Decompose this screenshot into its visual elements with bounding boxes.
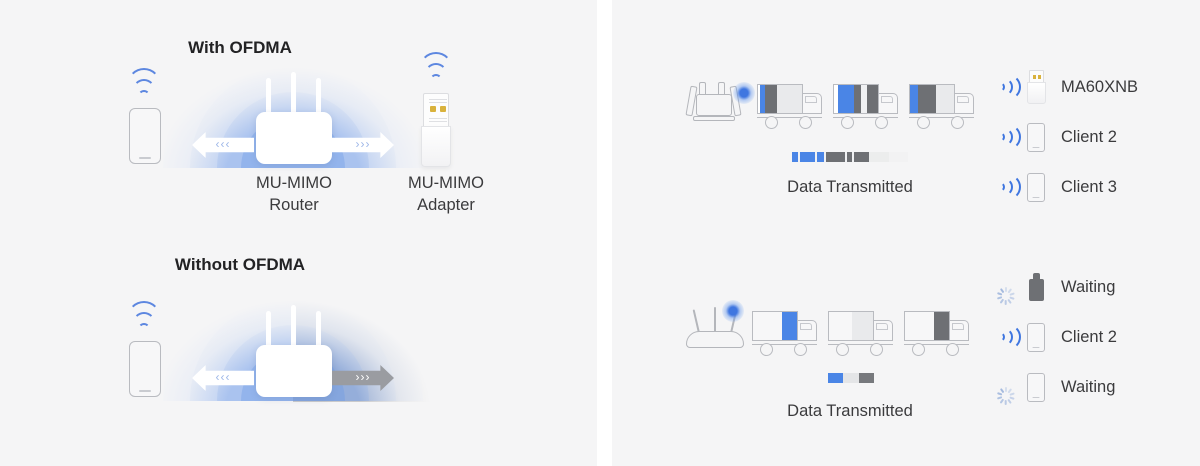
wifi-signal-icon	[993, 324, 1019, 350]
client-label: Client 2	[1053, 328, 1117, 347]
usb-connector	[423, 93, 449, 127]
arrow-glyphs: ‹‹‹	[216, 370, 231, 384]
client-label: Waiting	[1053, 278, 1115, 297]
segment	[765, 85, 776, 113]
truck-cargo	[833, 84, 879, 114]
client-label: Client 3	[1053, 178, 1117, 197]
data-truck	[828, 311, 893, 357]
segment	[910, 85, 918, 113]
phone-icon	[129, 341, 161, 397]
arrow-glyphs: ›››	[356, 137, 371, 151]
data-truck	[909, 84, 974, 130]
spinner-tick	[1005, 387, 1007, 392]
wifi-icon	[127, 311, 161, 335]
spinner-tick	[1008, 299, 1012, 304]
spinner-tick	[1010, 397, 1015, 400]
with-ofdma-title: With OFDMA	[30, 38, 450, 58]
router-body	[256, 112, 332, 164]
segment	[905, 312, 934, 340]
wifi-signal-icon	[993, 124, 1019, 150]
list-item: Client 2	[993, 112, 1193, 162]
data-transmitted-label: Data Transmitted	[720, 402, 980, 421]
segment	[854, 152, 869, 162]
loading-spinner-icon	[993, 374, 1019, 400]
arrow-glyphs: ‹‹‹	[216, 137, 231, 151]
wifi6-router-icon	[688, 82, 740, 128]
mumimo-router-caption: MU-MIMO Router	[194, 172, 394, 216]
phone-icon	[1019, 173, 1053, 202]
data-transmitted-bar	[828, 373, 874, 383]
client-label: Waiting	[1053, 378, 1115, 397]
spinner-tick	[1010, 392, 1015, 395]
data-truck	[904, 311, 969, 357]
segment	[782, 312, 797, 340]
segment	[753, 312, 782, 340]
segment	[843, 373, 859, 383]
list-item: Client 3	[993, 162, 1193, 212]
client-label: Client 2	[1053, 128, 1117, 147]
data-transmitted-bar	[792, 152, 908, 162]
data-truck	[752, 311, 817, 357]
client-list: Waiting Client 2 Waiting	[993, 262, 1193, 412]
loading-spinner-icon	[993, 274, 1019, 300]
segment	[918, 85, 936, 113]
segment	[867, 85, 878, 113]
list-item: Waiting	[993, 362, 1193, 412]
spinner-tick	[1005, 301, 1007, 306]
list-item: MA60XNB	[993, 62, 1193, 112]
mumimo-scene: ‹‹‹ ››› MU-MIMO Router MU-MIMO Adapter	[0, 0, 597, 233]
arrow-glyphs: ›››	[356, 370, 371, 384]
dark-usb-icon	[1019, 273, 1053, 301]
phone-icon	[1019, 323, 1053, 352]
segment	[854, 85, 861, 113]
spinner-tick	[997, 392, 1002, 395]
wifi-signal-icon	[993, 74, 1019, 100]
client-list: MA60XNB Client 2 Client 3	[993, 62, 1193, 212]
truck-cargo	[757, 84, 803, 114]
panel-divider	[597, 0, 612, 466]
spinner-tick	[1010, 292, 1015, 295]
wifi-icon	[127, 78, 161, 102]
without-ofdma-title: Without OFDMA	[30, 255, 450, 275]
segment	[869, 152, 888, 162]
router-body	[256, 345, 332, 397]
segment	[800, 152, 815, 162]
spinner-tick	[1000, 388, 1004, 393]
segment	[826, 152, 845, 162]
data-truck	[757, 84, 822, 130]
router-status-dot	[722, 300, 744, 322]
segment	[889, 152, 908, 162]
usb-adapter-icon	[421, 93, 451, 167]
list-item: Waiting	[993, 262, 1193, 312]
spinner-tick	[1008, 399, 1012, 404]
usb-adapter-icon	[1019, 70, 1053, 104]
wifi-icon	[419, 62, 453, 86]
segment	[852, 312, 873, 340]
spinner-tick	[997, 292, 1002, 295]
spinner-tick	[1000, 288, 1004, 293]
truck-cargo	[904, 311, 950, 341]
truck-cargo	[828, 311, 874, 341]
segment	[829, 312, 852, 340]
mumimo-adapter-caption: MU-MIMO Adapter	[366, 172, 526, 216]
wifi-signal-icon	[993, 174, 1019, 200]
truck-cargo	[909, 84, 955, 114]
truck-cargo	[752, 311, 798, 341]
segment	[936, 85, 954, 113]
segment	[828, 373, 843, 383]
segment	[817, 152, 824, 162]
phone-icon	[1019, 373, 1053, 402]
data-truck	[833, 84, 898, 130]
spinner-tick	[1005, 401, 1007, 406]
segment	[777, 85, 802, 113]
phone-icon	[1019, 123, 1053, 152]
usb-body	[421, 126, 451, 167]
list-item: Client 2	[993, 312, 1193, 362]
router-status-dot	[733, 82, 755, 104]
segment	[934, 312, 949, 340]
segment	[859, 373, 874, 383]
client-label: MA60XNB	[1053, 78, 1138, 97]
spinner-tick	[1000, 399, 1004, 404]
phone-icon	[129, 108, 161, 164]
spinner-tick	[1000, 299, 1004, 304]
segment	[838, 85, 854, 113]
data-transmitted-label: Data Transmitted	[720, 178, 980, 197]
spinner-tick	[1010, 297, 1015, 300]
infographic-canvas: ‹‹‹ ››› MU-MIMO Router MU-MIMO Adapter	[0, 0, 1200, 466]
spinner-tick	[1005, 287, 1007, 292]
